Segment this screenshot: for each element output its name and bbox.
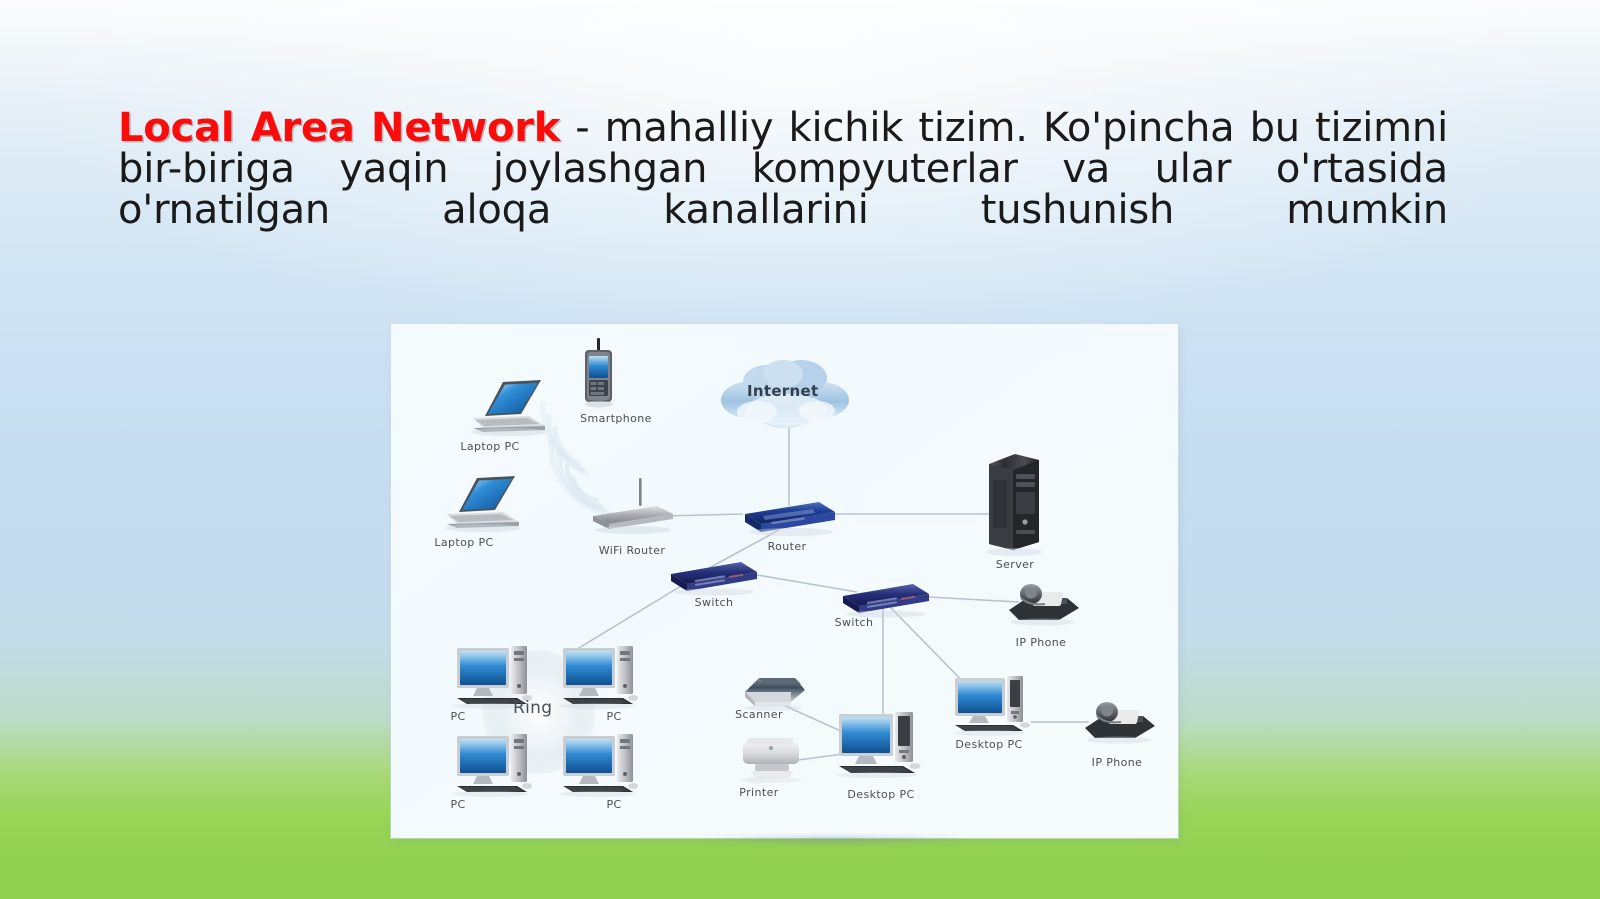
label-pc-ring-tl: PC bbox=[439, 710, 477, 723]
switch-icon-2 bbox=[843, 584, 929, 618]
label-ip-phone-1: IP Phone bbox=[995, 636, 1087, 649]
label-smartphone: Smartphone bbox=[561, 412, 671, 425]
pc-icon-ring-br bbox=[559, 734, 638, 797]
diagram-canvas bbox=[391, 324, 1178, 838]
scanner-icon bbox=[745, 678, 805, 711]
desktop-pc-icon-2 bbox=[953, 676, 1030, 736]
wifi-router-icon bbox=[593, 478, 673, 534]
label-laptop-pc-1: Laptop PC bbox=[445, 440, 535, 453]
server-icon bbox=[986, 454, 1042, 556]
router-icon bbox=[745, 502, 835, 536]
printer-icon bbox=[741, 738, 801, 786]
label-switch-2: Switch bbox=[809, 616, 899, 629]
image-edge-artifact bbox=[700, 836, 960, 843]
ip-phone-icon-1 bbox=[1009, 584, 1079, 626]
ip-phone-icon-2 bbox=[1085, 702, 1155, 744]
label-desktop-pc-2: Desktop PC bbox=[939, 738, 1039, 751]
laptop-pc-icon-2 bbox=[445, 476, 521, 532]
label-wifi-router: WiFi Router bbox=[577, 544, 687, 557]
headline-separator: - bbox=[560, 105, 604, 151]
laptop-pc-icon-1 bbox=[471, 380, 547, 436]
switch-icon-1 bbox=[671, 562, 757, 596]
smartphone-icon bbox=[585, 338, 613, 408]
desktop-pc-icon-1 bbox=[837, 712, 921, 778]
network-diagram-image: Internet Laptop PC Laptop PC Smartphone … bbox=[391, 324, 1178, 838]
page-title: Local Area Network - mahalliy kichik tiz… bbox=[118, 108, 1448, 272]
label-switch-1: Switch bbox=[669, 596, 759, 609]
internet-label: Internet bbox=[747, 382, 818, 400]
pc-icon-ring-bl bbox=[453, 734, 532, 797]
label-pc-ring-bl: PC bbox=[439, 798, 477, 811]
label-router: Router bbox=[741, 540, 833, 553]
label-printer: Printer bbox=[721, 786, 797, 799]
pc-icon-ring-tr bbox=[559, 646, 638, 709]
ring-label: Ring bbox=[513, 698, 552, 718]
label-scanner: Scanner bbox=[721, 708, 797, 721]
label-ip-phone-2: IP Phone bbox=[1071, 756, 1163, 769]
label-server: Server bbox=[969, 558, 1061, 571]
label-pc-ring-br: PC bbox=[595, 798, 633, 811]
label-desktop-pc-1: Desktop PC bbox=[831, 788, 931, 801]
label-laptop-pc-2: Laptop PC bbox=[419, 536, 509, 549]
headline-emphasis: Local Area Network bbox=[118, 105, 560, 151]
label-pc-ring-tr: PC bbox=[595, 710, 633, 723]
